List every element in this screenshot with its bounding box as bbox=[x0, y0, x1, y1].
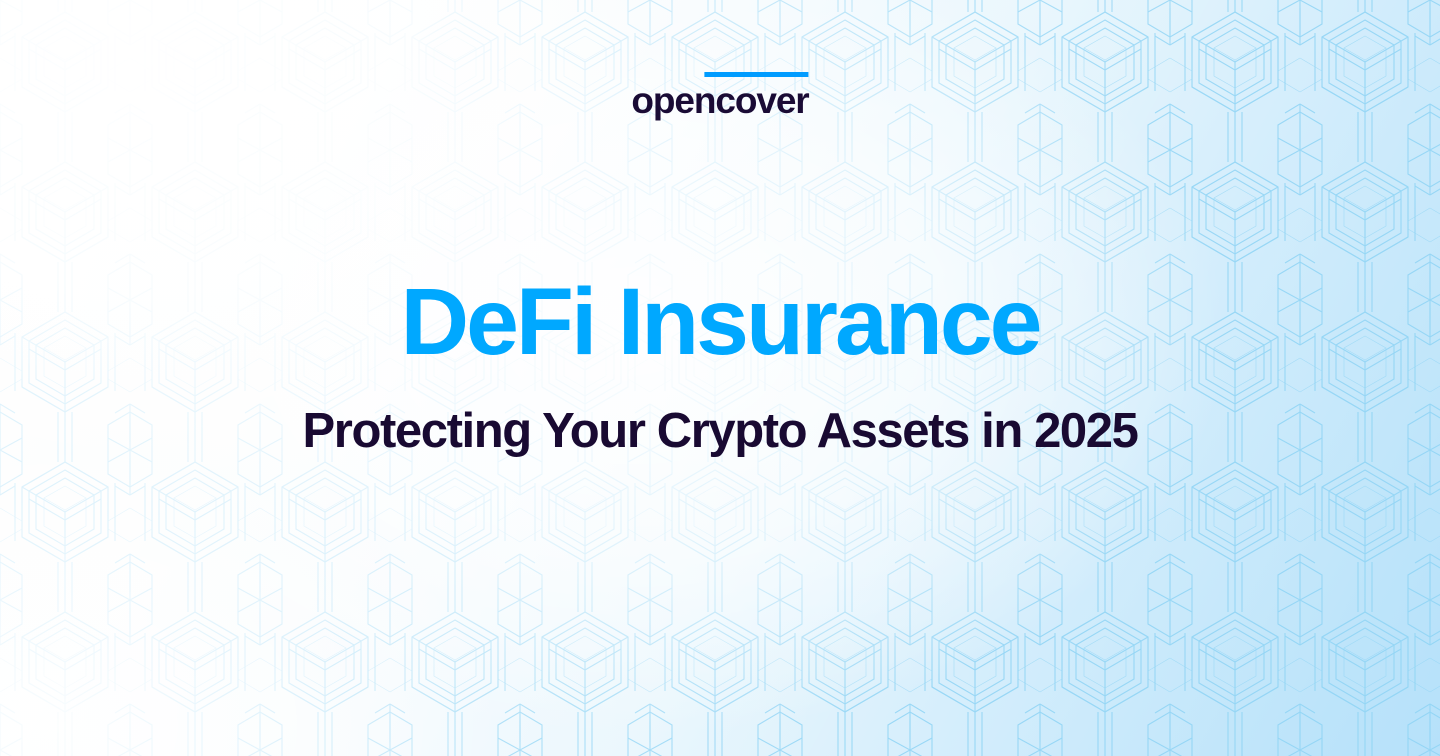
logo-accent-bar-icon bbox=[705, 72, 809, 77]
opencover-logo[interactable]: opencover bbox=[631, 64, 808, 119]
page-subtitle: Protecting Your Crypto Assets in 2025 bbox=[0, 404, 1440, 459]
page-title: DeFi Insurance bbox=[0, 272, 1440, 373]
hero-banner: opencover DeFi Insurance Protecting Your… bbox=[0, 0, 1440, 756]
banner-content: opencover DeFi Insurance Protecting Your… bbox=[0, 0, 1440, 756]
